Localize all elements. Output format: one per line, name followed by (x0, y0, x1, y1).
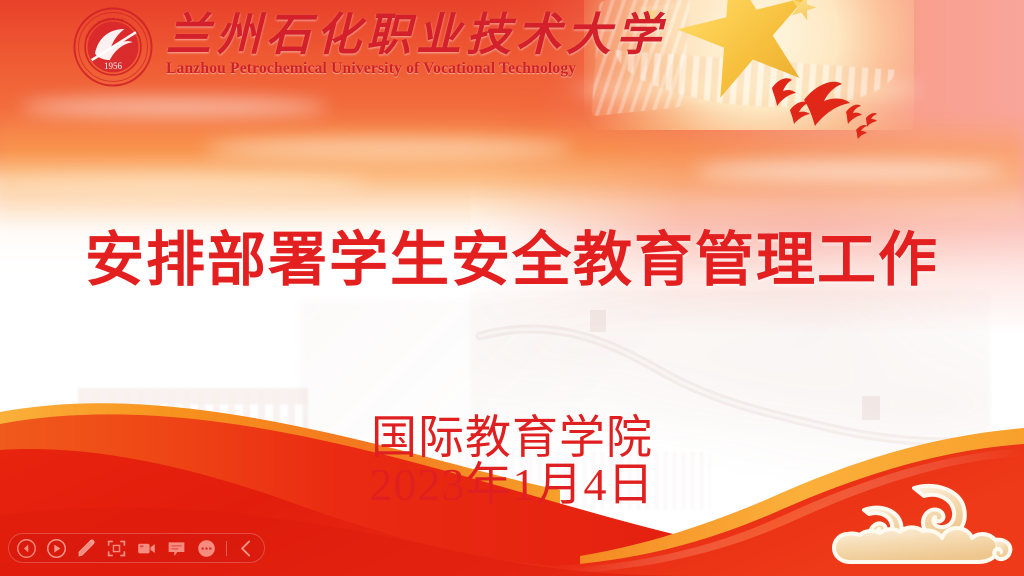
previous-slide-button[interactable] (16, 538, 37, 559)
comment-button[interactable] (166, 538, 187, 559)
university-circular-emblem-icon: 1956 兰州石化职业技术大学 (72, 6, 154, 88)
chevron-left-icon (236, 538, 257, 559)
university-logo-header: 1956 兰州石化职业技术大学 兰州石化职业技术大学 Lanzhou Petro… (72, 6, 666, 88)
emblem-year: 1956 (104, 61, 123, 71)
star-ray (749, 0, 884, 2)
expand-brackets-icon (106, 538, 127, 559)
subtitle-department: 国际教育学院 (0, 415, 1024, 462)
more-options-button[interactable] (196, 538, 217, 559)
slide-main-title: 安排部署学生安全教育管理工作 (0, 212, 1024, 297)
collapse-toolbar-button[interactable] (236, 538, 257, 559)
cloud-streak (0, 173, 369, 196)
video-camera-icon (136, 538, 157, 559)
subtitle-date: 2023年1月4日 (0, 462, 1024, 509)
pen-icon (76, 538, 97, 559)
flying-doves-icon (742, 66, 892, 146)
cloud-streak (696, 161, 1003, 181)
toolbar-separator (226, 541, 227, 556)
pen-annotate-button[interactable] (76, 538, 97, 559)
slide-subtitle-block: 国际教育学院 2023年1月4日 (0, 415, 1024, 509)
speech-bubble-icon (166, 538, 187, 559)
play-button[interactable] (46, 538, 67, 559)
cloud-streak (205, 138, 574, 159)
play-circle-icon (46, 538, 67, 559)
fullscreen-button[interactable] (106, 538, 127, 559)
player-toolbar[interactable] (8, 533, 265, 563)
university-name-english: Lanzhou Petrochemical University of Voca… (166, 60, 666, 78)
video-button[interactable] (136, 538, 157, 559)
chevron-left-circle-icon (16, 538, 37, 559)
more-dots-circle-icon (196, 538, 217, 559)
presentation-slide: 1956 兰州石化职业技术大学 兰州石化职业技术大学 Lanzhou Petro… (0, 0, 1024, 576)
university-name-chinese: 兰州石化职业技术大学 (166, 12, 666, 60)
